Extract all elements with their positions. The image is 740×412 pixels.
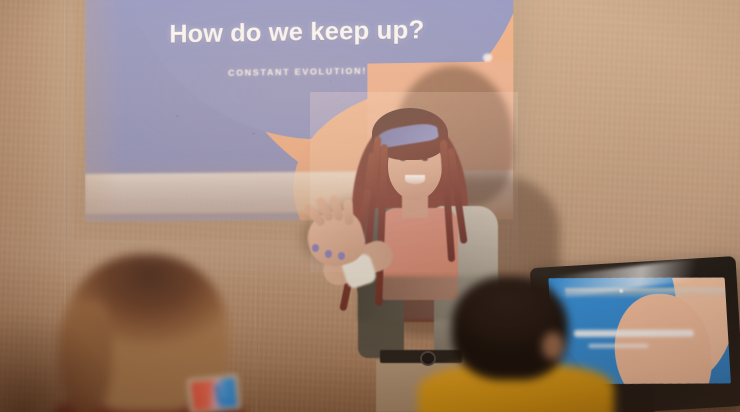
- presentation-photo: How do we keep up? CONSTANT EVOLUTION!: [0, 0, 740, 412]
- scene-vignette: [0, 0, 740, 412]
